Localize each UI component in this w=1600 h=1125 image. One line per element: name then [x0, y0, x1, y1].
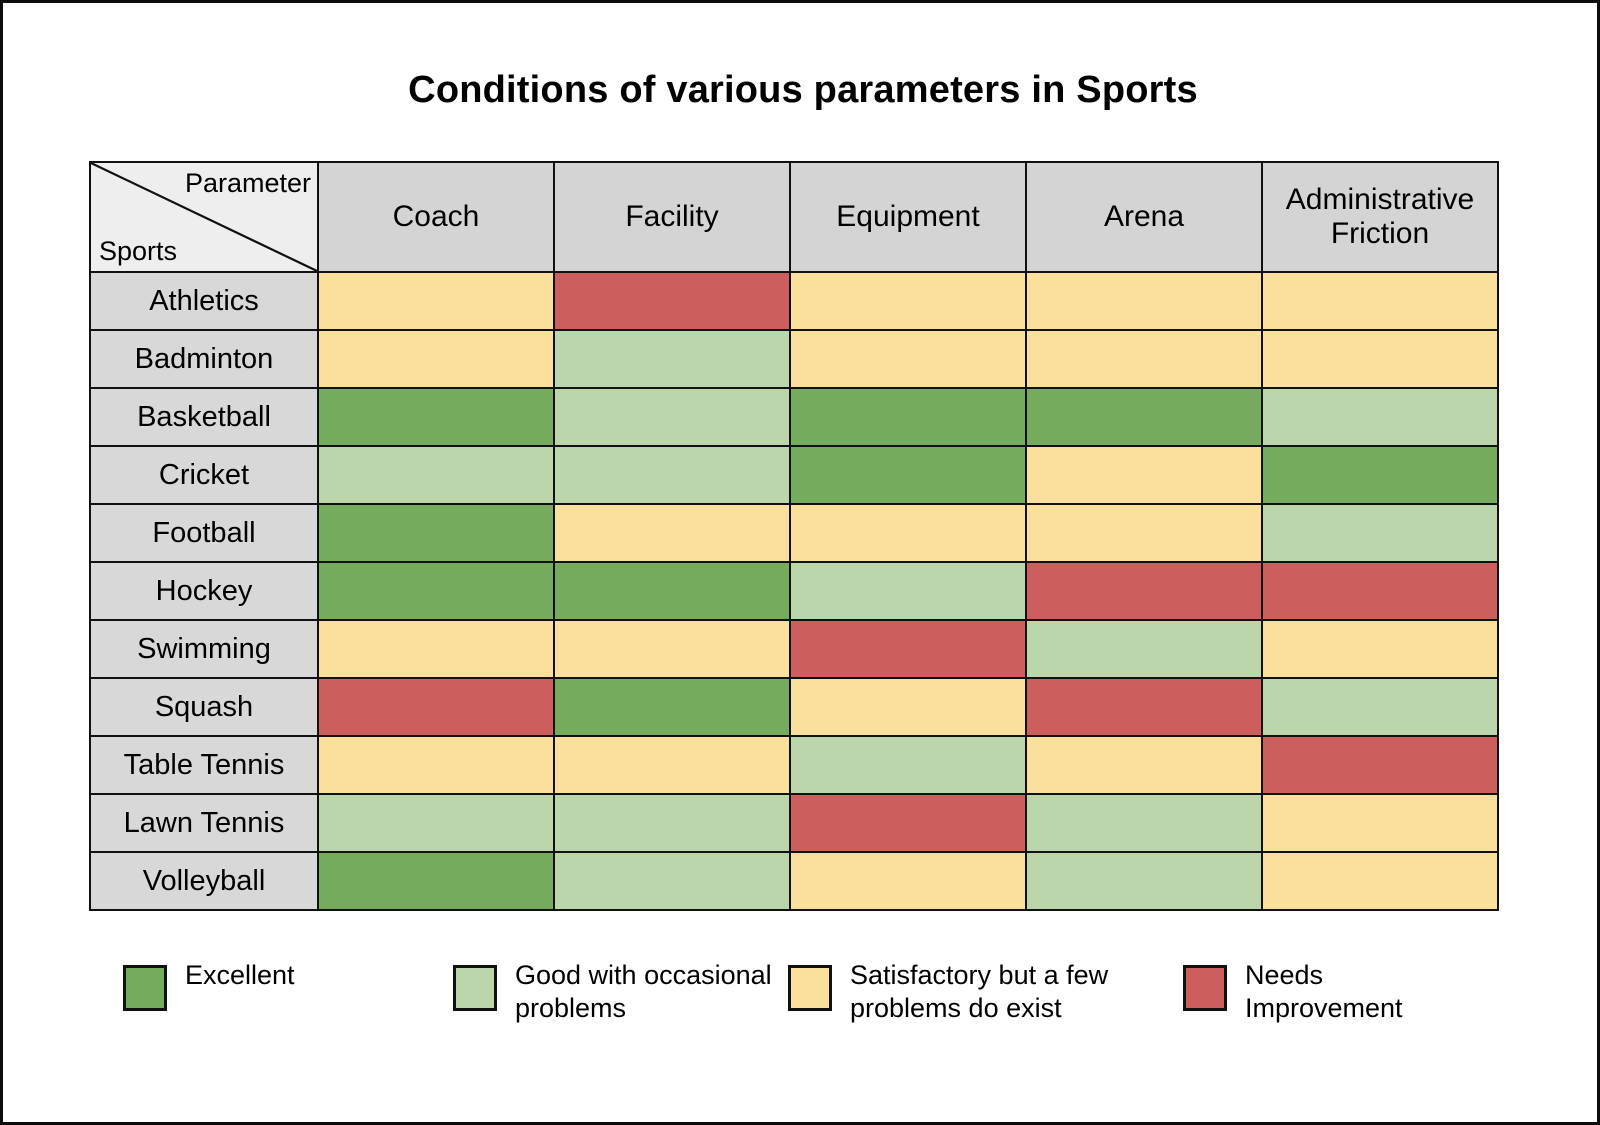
matrix-cell — [318, 272, 554, 330]
matrix-cell — [1026, 446, 1262, 504]
row-label-basketball: Basketball — [90, 388, 318, 446]
row-label-lawn-tennis: Lawn Tennis — [90, 794, 318, 852]
row-label-hockey: Hockey — [90, 562, 318, 620]
matrix-cell — [1262, 388, 1498, 446]
matrix-cell — [318, 562, 554, 620]
table-row: Hockey — [90, 562, 1498, 620]
legend: Excellent Good with occasional problems … — [123, 959, 1523, 1025]
matrix-cell — [1262, 446, 1498, 504]
legend-label-good: Good with occasional problems — [515, 959, 785, 1025]
matrix-cell — [318, 620, 554, 678]
matrix-cell — [318, 678, 554, 736]
matrix-cell — [790, 388, 1026, 446]
legend-item-excellent: Excellent — [123, 959, 453, 1011]
legend-item-satisfactory: Satisfactory but a few problems do exist — [788, 959, 1183, 1025]
table-row: Volleyball — [90, 852, 1498, 910]
table-row: Cricket — [90, 446, 1498, 504]
legend-swatch-satisfactory-icon — [788, 965, 832, 1011]
matrix-cell — [790, 852, 1026, 910]
matrix-cell — [554, 446, 790, 504]
matrix-cell — [554, 388, 790, 446]
table-row: Table Tennis — [90, 736, 1498, 794]
matrix-cell — [790, 678, 1026, 736]
matrix-cell — [554, 852, 790, 910]
chart-page: Conditions of various parameters in Spor… — [0, 0, 1600, 1125]
legend-item-needs-improvement: Needs Improvement — [1183, 959, 1483, 1025]
matrix-cell — [318, 388, 554, 446]
table-row: Badminton — [90, 330, 1498, 388]
table-row: Lawn Tennis — [90, 794, 1498, 852]
matrix-cell — [790, 736, 1026, 794]
table-row: Squash — [90, 678, 1498, 736]
row-label-badminton: Badminton — [90, 330, 318, 388]
matrix-cell — [1262, 678, 1498, 736]
matrix-cell — [790, 794, 1026, 852]
matrix-cell — [790, 446, 1026, 504]
matrix-cell — [318, 446, 554, 504]
row-label-swimming: Swimming — [90, 620, 318, 678]
page-title: Conditions of various parameters in Spor… — [3, 69, 1600, 112]
legend-swatch-needs-improvement-icon — [1183, 965, 1227, 1011]
row-label-table-tennis: Table Tennis — [90, 736, 318, 794]
matrix-container: Parameter Sports Coach Facility Equipmen… — [89, 161, 1497, 911]
corner-header-cell: Parameter Sports — [90, 162, 318, 272]
column-header-facility: Facility — [554, 162, 790, 272]
matrix-cell — [1262, 736, 1498, 794]
matrix-cell — [554, 736, 790, 794]
matrix-cell — [1262, 504, 1498, 562]
table-row: Football — [90, 504, 1498, 562]
matrix-cell — [318, 736, 554, 794]
matrix-cell — [554, 678, 790, 736]
matrix-cell — [1026, 794, 1262, 852]
matrix-cell — [790, 562, 1026, 620]
row-label-cricket: Cricket — [90, 446, 318, 504]
legend-label-excellent: Excellent — [185, 959, 295, 992]
matrix-cell — [1026, 736, 1262, 794]
conditions-matrix: Parameter Sports Coach Facility Equipmen… — [89, 161, 1499, 911]
legend-label-needs-improvement: Needs Improvement — [1245, 959, 1483, 1025]
table-row: Basketball — [90, 388, 1498, 446]
matrix-cell — [318, 794, 554, 852]
table-row: Athletics — [90, 272, 1498, 330]
legend-swatch-excellent-icon — [123, 965, 167, 1011]
legend-swatch-good-icon — [453, 965, 497, 1011]
matrix-cell — [790, 620, 1026, 678]
matrix-cell — [554, 794, 790, 852]
matrix-body: AthleticsBadmintonBasketballCricketFootb… — [90, 272, 1498, 910]
matrix-cell — [1262, 562, 1498, 620]
matrix-cell — [554, 562, 790, 620]
matrix-cell — [554, 330, 790, 388]
matrix-cell — [318, 330, 554, 388]
matrix-cell — [1026, 504, 1262, 562]
legend-label-satisfactory: Satisfactory but a few problems do exist — [850, 959, 1120, 1025]
corner-parameter-label: Parameter — [185, 169, 311, 197]
matrix-cell — [1262, 620, 1498, 678]
matrix-cell — [318, 504, 554, 562]
matrix-cell — [790, 330, 1026, 388]
matrix-cell — [1262, 794, 1498, 852]
matrix-cell — [1262, 272, 1498, 330]
matrix-cell — [790, 272, 1026, 330]
column-header-coach: Coach — [318, 162, 554, 272]
table-row: Swimming — [90, 620, 1498, 678]
matrix-cell — [554, 620, 790, 678]
matrix-cell — [1026, 678, 1262, 736]
row-label-football: Football — [90, 504, 318, 562]
matrix-cell — [1026, 330, 1262, 388]
matrix-cell — [790, 504, 1026, 562]
column-header-equipment: Equipment — [790, 162, 1026, 272]
corner-sports-label: Sports — [99, 237, 177, 265]
matrix-cell — [1026, 562, 1262, 620]
row-label-squash: Squash — [90, 678, 318, 736]
matrix-header-row: Parameter Sports Coach Facility Equipmen… — [90, 162, 1498, 272]
matrix-cell — [1026, 852, 1262, 910]
matrix-cell — [1026, 272, 1262, 330]
matrix-cell — [1262, 852, 1498, 910]
column-header-administrative-friction: Administrative Friction — [1262, 162, 1498, 272]
matrix-head: Parameter Sports Coach Facility Equipmen… — [90, 162, 1498, 272]
row-label-athletics: Athletics — [90, 272, 318, 330]
matrix-cell — [1026, 620, 1262, 678]
legend-item-good: Good with occasional problems — [453, 959, 788, 1025]
row-label-volleyball: Volleyball — [90, 852, 318, 910]
matrix-cell — [1262, 330, 1498, 388]
matrix-cell — [318, 852, 554, 910]
column-header-arena: Arena — [1026, 162, 1262, 272]
matrix-cell — [554, 272, 790, 330]
matrix-cell — [554, 504, 790, 562]
matrix-cell — [1026, 388, 1262, 446]
